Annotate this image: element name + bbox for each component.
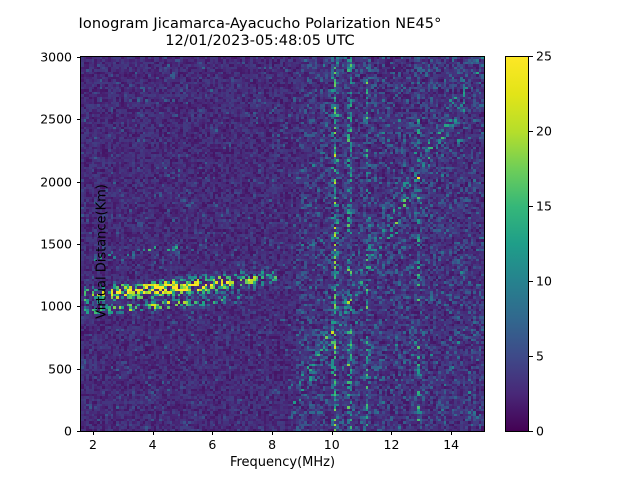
x-tick-mark <box>212 431 213 435</box>
colorbar-tick-mark <box>529 56 533 57</box>
y-tick-label: 0 <box>20 424 72 439</box>
x-tick-label: 10 <box>324 437 340 452</box>
x-tick-mark <box>332 431 333 435</box>
colorbar-tick-label: 20 <box>536 124 552 139</box>
y-axis-label: Virtual Distance(Km) <box>95 64 110 440</box>
colorbar-tick-label: 10 <box>536 274 552 289</box>
y-tick-label: 2500 <box>20 112 72 127</box>
y-tick-mark <box>77 244 81 245</box>
x-tick-label: 14 <box>443 437 459 452</box>
colorbar-tick-label: 5 <box>536 349 544 364</box>
y-tick-mark <box>77 306 81 307</box>
ionogram-heatmap[interactable] <box>81 57 484 431</box>
y-tick-label: 2000 <box>20 174 72 189</box>
colorbar-tick-mark <box>529 431 533 432</box>
x-tick-mark <box>451 431 452 435</box>
colorbar-tick-label: 25 <box>536 49 552 64</box>
colorbar-tick-label: 0 <box>536 424 544 439</box>
y-tick-mark <box>77 119 81 120</box>
x-axis-label: Frequency(MHz) <box>80 455 485 470</box>
y-tick-mark <box>77 369 81 370</box>
colorbar-tick-mark <box>529 206 533 207</box>
y-tick-label: 1500 <box>20 237 72 252</box>
colorbar-tick-label: 15 <box>536 199 552 214</box>
y-tick-mark <box>77 431 81 432</box>
y-tick-label: 1000 <box>20 299 72 314</box>
colorbar-tick-mark <box>529 356 533 357</box>
colorbar-tick-mark <box>529 281 533 282</box>
x-tick-label: 4 <box>149 437 157 452</box>
ionogram-figure: Ionogram Jicamarca-Ayacucho Polarization… <box>0 0 640 480</box>
x-tick-label: 8 <box>268 437 276 452</box>
colorbar-container[interactable] <box>505 56 529 432</box>
y-tick-mark <box>77 182 81 183</box>
title-line-main: Ionogram Jicamarca-Ayacucho Polarization… <box>0 16 520 33</box>
x-tick-mark <box>391 431 392 435</box>
x-tick-mark <box>153 431 154 435</box>
colorbar-tick-mark <box>529 131 533 132</box>
y-tick-mark <box>77 57 81 58</box>
chart-title: Ionogram Jicamarca-Ayacucho Polarization… <box>0 16 520 50</box>
y-tick-label: 3000 <box>20 50 72 65</box>
x-tick-label: 12 <box>384 437 400 452</box>
x-tick-label: 6 <box>208 437 216 452</box>
heatmap-plot-area[interactable] <box>80 56 485 432</box>
x-tick-mark <box>272 431 273 435</box>
y-tick-label: 500 <box>20 361 72 376</box>
colorbar[interactable] <box>505 56 529 432</box>
colorbar-gradient <box>506 57 528 431</box>
title-line-timestamp: 12/01/2023-05:48:05 UTC <box>0 33 520 50</box>
